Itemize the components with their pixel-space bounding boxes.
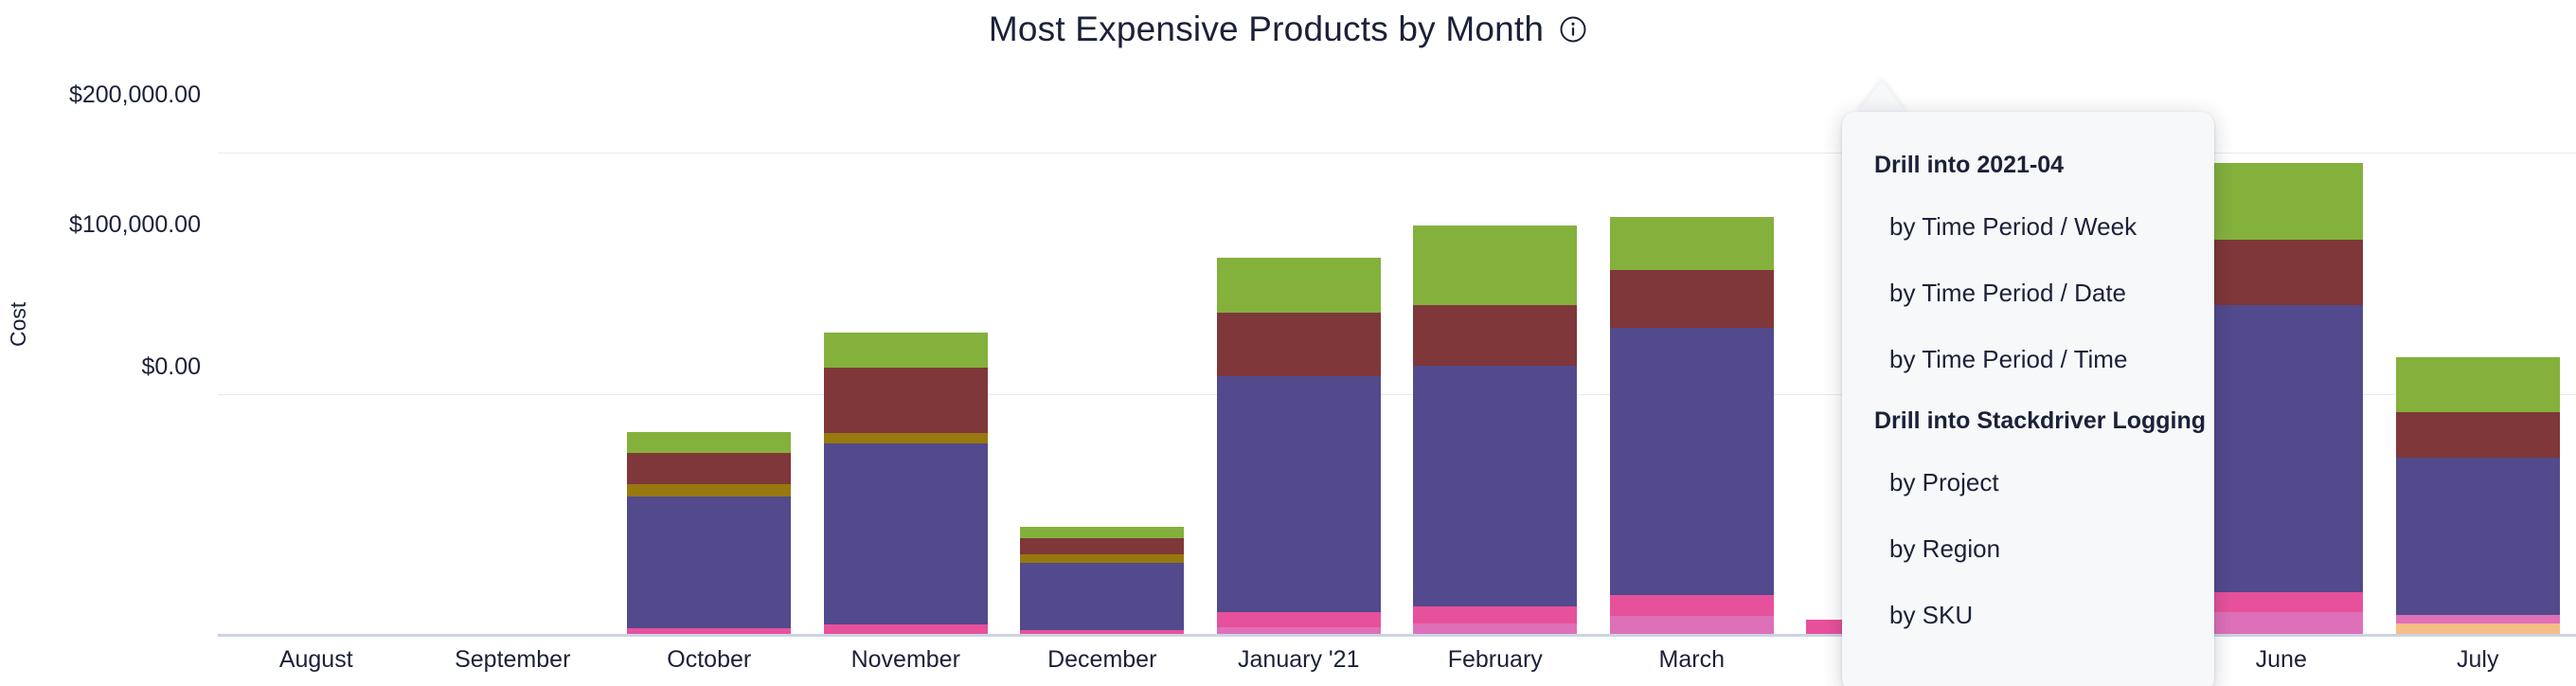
bar-segment[interactable] — [2199, 305, 2363, 591]
bar-segment[interactable] — [1413, 366, 1577, 606]
bar-segment[interactable] — [2199, 163, 2363, 240]
x-tick-label: January '21 — [1238, 646, 1359, 674]
x-tick-label: February — [1448, 646, 1543, 674]
bar-segment[interactable] — [2199, 612, 2363, 634]
bar-segment[interactable] — [1020, 563, 1184, 630]
bar-column[interactable] — [627, 432, 791, 634]
bar-segment[interactable] — [2396, 615, 2560, 623]
bar-segment[interactable] — [1217, 258, 1381, 313]
bar-segment[interactable] — [1413, 623, 1577, 634]
bar-segment[interactable] — [1610, 616, 1774, 634]
bar-segment[interactable] — [1413, 226, 1577, 305]
bar-segment[interactable] — [1020, 554, 1184, 563]
drill-item-region[interactable]: by Region — [1842, 515, 2214, 582]
bar-segment[interactable] — [1217, 313, 1381, 375]
bar-segment[interactable] — [1413, 305, 1577, 366]
bar-segment[interactable] — [824, 624, 988, 634]
page-title: Most Expensive Products by Month — [989, 9, 1544, 49]
drill-item-project[interactable]: by Project — [1842, 449, 2214, 515]
bar-column[interactable] — [1610, 217, 1774, 634]
drill-item-time-period-week[interactable]: by Time Period / Week — [1842, 193, 2214, 260]
bar-segment[interactable] — [1610, 217, 1774, 270]
bar-group — [218, 57, 2576, 635]
chart-header: Most Expensive Products by Month — [0, 0, 2576, 59]
drill-item-time-period-time[interactable]: by Time Period / Time — [1842, 326, 2214, 392]
bar-segment[interactable] — [824, 333, 988, 368]
bar-segment[interactable] — [1020, 630, 1184, 634]
x-tick-label: August — [279, 646, 353, 674]
bar-segment[interactable] — [2396, 458, 2560, 614]
drill-item-time-period-date[interactable]: by Time Period / Date — [1842, 260, 2214, 326]
drill-item-sku[interactable]: by SKU — [1842, 582, 2214, 648]
drill-group-title-time: Drill into 2021-04 — [1842, 136, 2214, 193]
bar-segment[interactable] — [1610, 270, 1774, 328]
x-tick-label: November — [851, 646, 960, 674]
bar-segment[interactable] — [627, 453, 791, 484]
bar-segment[interactable] — [1020, 527, 1184, 539]
y-tick-200k: $200,000.00 — [0, 81, 201, 109]
x-tick-label: June — [2256, 646, 2307, 674]
bar-segment[interactable] — [2396, 623, 2560, 634]
y-tick-100k: $100,000.00 — [0, 211, 201, 239]
bar-segment[interactable] — [824, 433, 988, 443]
bar-segment[interactable] — [2199, 592, 2363, 613]
bar-column[interactable] — [2199, 163, 2363, 634]
bar-segment[interactable] — [627, 484, 791, 496]
bar-segment[interactable] — [1413, 606, 1577, 623]
y-tick-0: $0.00 — [0, 353, 201, 381]
bar-column[interactable] — [1413, 226, 1577, 634]
bar-segment[interactable] — [824, 443, 988, 624]
x-tick-label: March — [1659, 646, 1725, 674]
y-axis-title: Cost — [6, 302, 31, 347]
bar-column[interactable] — [1020, 527, 1184, 634]
popover-arrow — [1857, 81, 1906, 113]
bar-segment[interactable] — [2396, 357, 2560, 412]
bar-segment[interactable] — [627, 496, 791, 629]
bar-segment[interactable] — [1610, 595, 1774, 616]
bar-column[interactable] — [2396, 357, 2560, 634]
x-tick-label: July — [2457, 646, 2498, 674]
plot-area — [218, 57, 2576, 635]
chart-root: Most Expensive Products by Month Cost $2… — [0, 0, 2576, 686]
bar-column[interactable] — [1217, 258, 1381, 634]
bar-segment[interactable] — [1217, 376, 1381, 612]
bar-segment[interactable] — [2199, 240, 2363, 305]
drill-down-menu[interactable]: Drill into 2021-04 by Time Period / Week… — [1842, 112, 2214, 686]
bar-segment[interactable] — [1217, 612, 1381, 628]
bar-segment[interactable] — [2396, 412, 2560, 458]
bar-segment[interactable] — [627, 628, 791, 634]
drill-group-title-stackdriver: Drill into Stackdriver Logging — [1842, 392, 2214, 449]
info-circle-icon[interactable] — [1559, 15, 1587, 44]
bar-segment[interactable] — [1610, 328, 1774, 595]
x-tick-label: December — [1047, 646, 1156, 674]
bar-segment[interactable] — [1217, 627, 1381, 634]
bar-segment[interactable] — [627, 432, 791, 453]
bar-segment[interactable] — [824, 368, 988, 433]
bar-column[interactable] — [824, 333, 988, 634]
x-tick-label: September — [455, 646, 570, 674]
x-tick-label: October — [667, 646, 751, 674]
bar-segment[interactable] — [1020, 538, 1184, 554]
